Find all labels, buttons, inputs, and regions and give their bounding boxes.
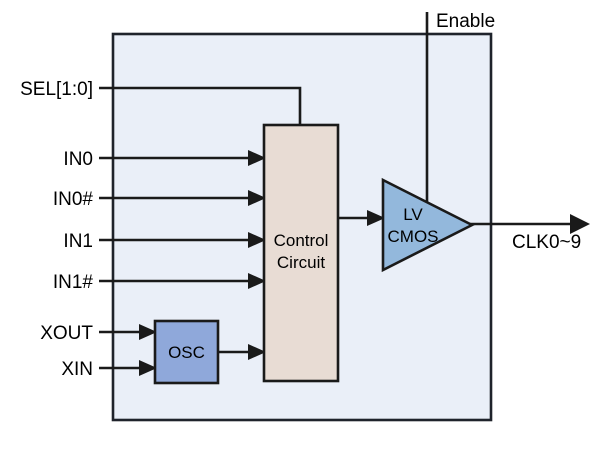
block-control-circuit[interactable]: Control Circuit	[264, 125, 338, 381]
signal-clk-output-arrowhead	[570, 214, 590, 234]
signal-xout-label: XOUT	[40, 323, 93, 344]
signal-xin-label: XIN	[61, 359, 93, 380]
block-oscillator[interactable]: OSC	[155, 321, 218, 383]
signal-in0n-label: IN0#	[53, 189, 94, 210]
signal-in0-label: IN0	[63, 149, 93, 170]
oscillator-label: OSC	[168, 343, 205, 362]
block-diagram-canvas: SEL[1:0] IN0 IN0# IN1 IN1#	[0, 0, 602, 450]
signal-in1-label: IN1	[63, 231, 93, 252]
block-diagram-svg: SEL[1:0] IN0 IN0# IN1 IN1#	[0, 0, 602, 450]
signal-enable-label: Enable	[436, 11, 495, 32]
lv-cmos-label-line2: CMOS	[388, 227, 439, 246]
signal-clk-output-label: CLK0~9	[512, 232, 581, 253]
control-circuit-label-line2: Circuit	[277, 253, 325, 272]
control-circuit-label-line1: Control	[274, 231, 329, 250]
signal-sel-label: SEL[1:0]	[20, 79, 93, 100]
signal-in1n-label: IN1#	[53, 272, 94, 293]
lv-cmos-label-line1: LV	[403, 205, 423, 224]
